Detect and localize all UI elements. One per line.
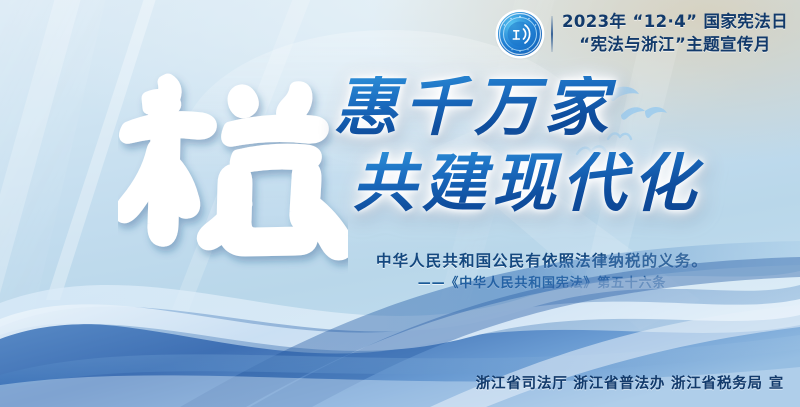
poster-canvas: 2023年 “12·4” 国家宪法日 “宪法与浙江”主题宣传月 惠千万家 共建现… bbox=[0, 0, 800, 407]
footer-credit: 浙江省司法厅 浙江省普法办 浙江省税务局 宣 bbox=[476, 372, 784, 393]
header-divider bbox=[551, 16, 553, 52]
header-banner: 2023年 “12·4” 国家宪法日 “宪法与浙江”主题宣传月 bbox=[498, 12, 792, 56]
national-constitution-day-emblem-icon bbox=[498, 12, 542, 56]
title-line-1: 惠千万家 bbox=[334, 76, 730, 140]
header-line-1: 2023年 “12·4” 国家宪法日 bbox=[562, 12, 788, 33]
header-line-2: “宪法与浙江”主题宣传月 bbox=[562, 35, 788, 56]
